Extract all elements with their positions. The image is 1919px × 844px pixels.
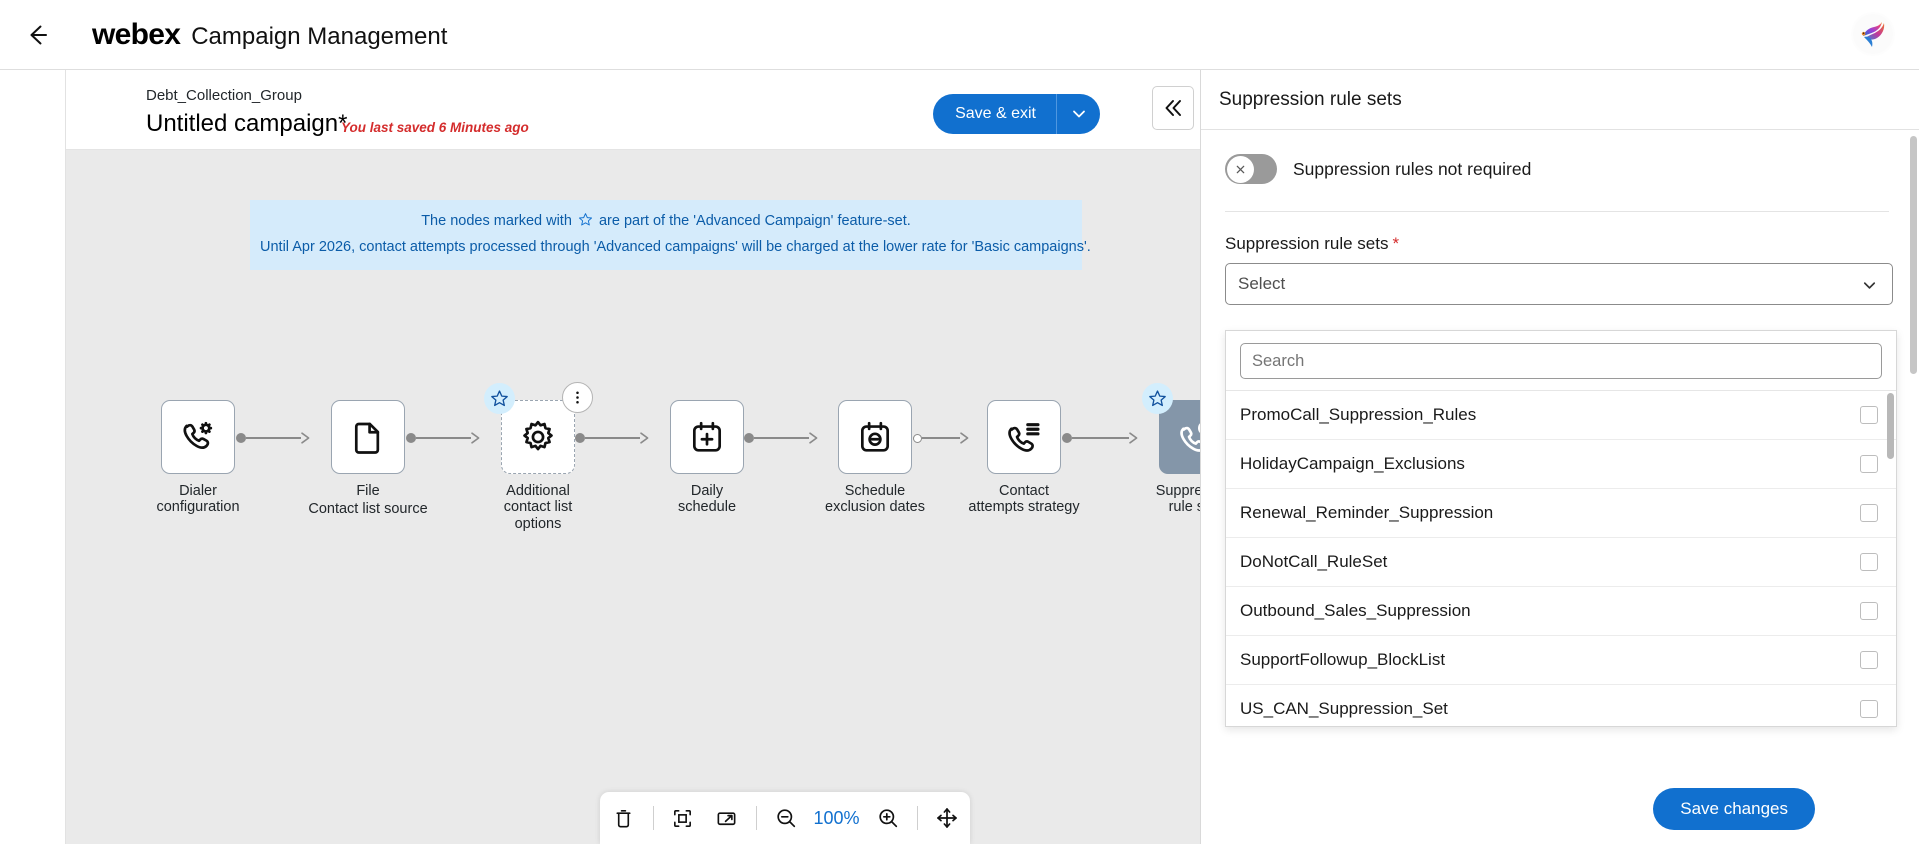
dropdown-option-checkbox[interactable] [1860, 553, 1878, 571]
connector-dot [744, 433, 754, 443]
connector-arrow-icon [808, 431, 824, 445]
dropdown-scrollbar-thumb[interactable] [1887, 393, 1894, 459]
phone-block-icon [1177, 418, 1200, 456]
connector-line [246, 437, 301, 439]
left-rail [0, 70, 66, 844]
dropdown-option-checkbox[interactable] [1860, 504, 1878, 522]
star-icon [578, 211, 593, 235]
dropdown-option-checkbox[interactable] [1860, 455, 1878, 473]
save-and-exit-dropdown-button[interactable] [1056, 94, 1100, 134]
dropdown-option-checkbox[interactable] [1860, 406, 1878, 424]
toolbar-divider-1 [653, 806, 654, 830]
dropdown-option[interactable]: US_CAN_Suppression_Set [1226, 685, 1896, 726]
connector-dot [575, 433, 585, 443]
connector-dot [406, 433, 416, 443]
advanced-feature-star-badge[interactable] [1142, 383, 1173, 414]
brand: webex Campaign Management [92, 18, 447, 52]
campaign-flow: DialerconfigurationFileContact list sour… [66, 400, 1200, 590]
trash-icon [612, 807, 635, 830]
connector-line [754, 437, 809, 439]
node-label-file-contact-list-source: FileContact list source [308, 484, 427, 519]
node-box-schedule-exclusion-dates[interactable] [838, 400, 912, 474]
advanced-campaign-banner: The nodes marked with are part of the 'A… [250, 200, 1082, 270]
page-title: Untitled campaign* [146, 110, 347, 138]
node-label-additional-contact-list-options: Additionalcontact listoptions [504, 484, 573, 534]
collapse-panel-button[interactable] [1152, 86, 1194, 130]
flow-node-schedule-exclusion-dates[interactable]: Scheduleexclusion dates [807, 400, 943, 515]
connector-arrow-icon [639, 431, 655, 445]
flow-node-file-contact-list-source[interactable]: FileContact list source [300, 400, 436, 519]
dropdown-option[interactable]: Outbound_Sales_Suppression [1226, 587, 1896, 636]
node-box-daily-schedule[interactable] [670, 400, 744, 474]
fit-to-screen-icon [671, 807, 694, 830]
pan-button[interactable] [926, 798, 968, 838]
save-changes-button[interactable]: Save changes [1653, 788, 1815, 830]
dropdown-option-checkbox[interactable] [1860, 651, 1878, 669]
calendar-minus-icon [856, 418, 894, 456]
save-exit-group: Save & exit [933, 94, 1100, 134]
dropdown-option-checkbox[interactable] [1860, 700, 1878, 718]
flow-node-dialer-configuration[interactable]: Dialerconfiguration [130, 400, 266, 515]
node-label-line-2: contact list [504, 500, 573, 516]
node-box-file-contact-list-source[interactable] [331, 400, 405, 474]
flow-node-additional-contact-list-options[interactable]: Additionalcontact listoptions [470, 400, 606, 534]
flow-node-contact-attempts-strategy[interactable]: Contactattempts strategy [956, 400, 1092, 515]
toolbar-divider-3 [917, 806, 918, 830]
panel-footer: Save changes [1201, 774, 1919, 844]
node-box-dialer-configuration[interactable] [161, 400, 235, 474]
banner-line-1-pre: The nodes marked with [421, 213, 572, 229]
node-label-line-1: Contact [968, 484, 1079, 500]
dropdown-option-label: DoNotCall_RuleSet [1240, 552, 1387, 572]
node-sublabel: Contact list source [308, 500, 427, 519]
star-icon [490, 389, 509, 408]
dropdown-option-label: SupportFollowup_BlockList [1240, 650, 1445, 670]
flow-node-daily-schedule[interactable]: Dailyschedule [639, 400, 775, 515]
node-context-menu-button[interactable] [562, 382, 593, 413]
zoom-level[interactable]: 100% [809, 808, 865, 829]
panel-title: Suppression rule sets [1219, 89, 1402, 111]
suppression-rule-sets-dropdown: PromoCall_Suppression_RulesHolidayCampai… [1225, 330, 1897, 727]
flow-connector [575, 432, 655, 444]
node-box-contact-attempts-strategy[interactable] [987, 400, 1061, 474]
node-label-line-2: attempts strategy [968, 500, 1079, 516]
connector-dot [913, 434, 922, 443]
connector-arrow-icon [959, 431, 975, 445]
expand-icon [715, 807, 738, 830]
zoom-out-icon [774, 806, 798, 830]
flow-connector [236, 432, 316, 444]
connector-line [922, 437, 960, 439]
connector-dot [236, 433, 246, 443]
connector-arrow-icon [300, 431, 316, 445]
avatar[interactable] [1851, 12, 1895, 56]
node-label-line-2: schedule [678, 500, 736, 516]
dropdown-option-label: HolidayCampaign_Exclusions [1240, 454, 1465, 474]
dropdown-option-list[interactable]: PromoCall_Suppression_RulesHolidayCampai… [1226, 390, 1896, 726]
node-label-schedule-exclusion-dates: Scheduleexclusion dates [825, 484, 925, 515]
dropdown-option-checkbox[interactable] [1860, 602, 1878, 620]
connector-line [585, 437, 640, 439]
field-label-text: Suppression rule sets [1225, 234, 1388, 253]
dropdown-search-wrap [1226, 331, 1896, 390]
advanced-feature-star-badge[interactable] [484, 383, 515, 414]
flow-connector [913, 432, 975, 444]
connector-dot [1062, 433, 1072, 443]
panel-scrollbar-thumb[interactable] [1910, 136, 1917, 374]
dropdown-option-label: PromoCall_Suppression_Rules [1240, 405, 1476, 425]
brand-webex-wordmark: webex [92, 18, 180, 52]
zoom-in-icon [876, 806, 900, 830]
node-label-line-2: exclusion dates [825, 500, 925, 516]
flow-connector [406, 432, 486, 444]
node-label-line-1: Suppression [1156, 484, 1200, 500]
suppression-rule-sets-select[interactable]: Select [1225, 263, 1893, 305]
app-title: Campaign Management [191, 23, 447, 51]
toolbar-divider-2 [756, 806, 757, 830]
chevron-down-icon [1070, 105, 1088, 123]
dropdown-option-label: Renewal_Reminder_Suppression [1240, 503, 1493, 523]
node-label-line-1: Daily [678, 484, 736, 500]
app-root: webex Campaign Management [0, 0, 1919, 844]
node-label-line-1: Additional [504, 484, 573, 500]
move-icon [935, 806, 959, 830]
node-label-line-1: File [308, 484, 427, 500]
fit-to-screen-button[interactable] [662, 798, 704, 838]
node-label-line-1: Schedule [825, 484, 925, 500]
dropdown-option[interactable]: Renewal_Reminder_Suppression [1226, 489, 1896, 538]
flow-canvas[interactable]: The nodes marked with are part of the 'A… [66, 150, 1200, 844]
node-label-suppression-rule-sets: Suppressionrule sets [1156, 484, 1200, 515]
node-label-line-1: Dialer [156, 484, 239, 500]
search-input[interactable] [1240, 343, 1882, 379]
connector-line [416, 437, 471, 439]
canvas-toolbar: 100% [600, 792, 970, 844]
close-x-icon [1233, 162, 1248, 177]
more-vertical-icon [569, 389, 586, 406]
expand-button[interactable] [706, 798, 748, 838]
node-box-suppression-rule-sets[interactable] [1159, 400, 1200, 474]
connector-arrow-icon [470, 431, 486, 445]
connector-arrow-icon [1128, 431, 1144, 445]
banner-line-1: The nodes marked with are part of the 'A… [260, 209, 1072, 235]
last-saved-note: You last saved 6 Minutes ago [341, 120, 529, 135]
panel-header: Suppression rule sets [1201, 70, 1919, 130]
gear-icon [519, 418, 557, 456]
node-box-additional-contact-list-options[interactable] [501, 400, 575, 474]
dropdown-option[interactable]: SupportFollowup_BlockList [1226, 636, 1896, 685]
node-label-line-2: rule sets [1156, 500, 1200, 516]
select-placeholder: Select [1238, 274, 1285, 294]
flow-node-suppression-rule-sets[interactable]: Suppressionrule sets [1128, 400, 1200, 515]
zoom-in-button[interactable] [867, 798, 909, 838]
chevron-down-icon [1860, 276, 1879, 300]
zoom-out-button[interactable] [765, 798, 807, 838]
connector-line [1072, 437, 1129, 439]
save-and-exit-button[interactable]: Save & exit [933, 94, 1056, 134]
banner-line-2: Until Apr 2026, contact attempts process… [260, 235, 1072, 259]
suppression-rule-sets-label: Suppression rule sets* [1225, 234, 1895, 254]
node-label-line-2: configuration [156, 500, 239, 516]
node-sublabel: options [504, 515, 573, 534]
campaign-group-name: Debt_Collection_Group [146, 87, 302, 104]
bird-avatar-icon [1852, 13, 1894, 55]
campaign-subheader: Debt_Collection_Group Untitled campaign*… [66, 70, 1200, 150]
toggle-label: Suppression rules not required [1293, 159, 1531, 180]
dropdown-option-label: Outbound_Sales_Suppression [1240, 601, 1471, 621]
phone-gear-icon [179, 418, 217, 456]
node-label-dialer-configuration: Dialerconfiguration [156, 484, 239, 515]
phone-list-icon [1005, 418, 1043, 456]
flow-connector [744, 432, 824, 444]
suppression-rule-sets-panel: Suppression rule sets Suppression rules … [1200, 70, 1919, 844]
top-bar: webex Campaign Management [0, 0, 1919, 70]
star-icon [1148, 389, 1167, 408]
calendar-plus-icon [688, 418, 726, 456]
panel-divider [1225, 211, 1889, 212]
dropdown-option[interactable]: HolidayCampaign_Exclusions [1226, 440, 1896, 489]
required-marker: * [1392, 234, 1399, 253]
back-button[interactable] [14, 12, 60, 58]
flow-connector [1062, 432, 1144, 444]
dropdown-option[interactable]: DoNotCall_RuleSet [1226, 538, 1896, 587]
dropdown-option-label: US_CAN_Suppression_Set [1240, 699, 1448, 719]
node-label-daily-schedule: Dailyschedule [678, 484, 736, 515]
dropdown-option[interactable]: PromoCall_Suppression_Rules [1226, 391, 1896, 440]
file-icon [349, 418, 387, 456]
node-label-contact-attempts-strategy: Contactattempts strategy [968, 484, 1079, 515]
banner-line-1-post: are part of the 'Advanced Campaign' feat… [599, 213, 911, 229]
suppression-not-required-toggle[interactable] [1225, 154, 1277, 184]
suppression-not-required-row: Suppression rules not required [1219, 148, 1895, 184]
toggle-knob [1227, 156, 1254, 183]
delete-button[interactable] [603, 798, 645, 838]
chevrons-left-icon [1161, 96, 1185, 120]
arrow-left-icon [24, 22, 50, 48]
